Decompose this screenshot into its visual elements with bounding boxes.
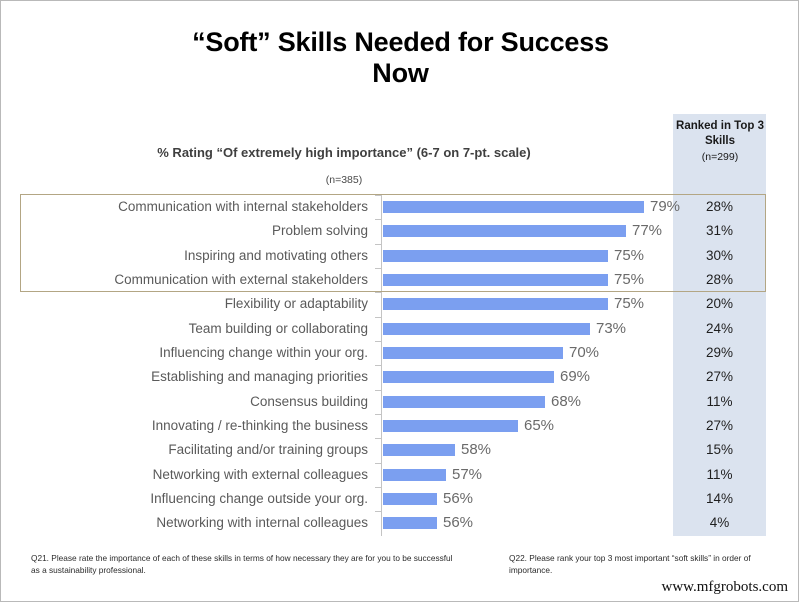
ranked-top3-value: 11% <box>673 463 766 487</box>
category-label: Team building or collaborating <box>23 317 368 341</box>
slide-canvas: “Soft” Skills Needed for Success Now Ran… <box>0 0 799 602</box>
bar-value-label: 68% <box>551 390 581 414</box>
bar <box>383 444 455 456</box>
ranked-top3-value: 28% <box>673 268 766 292</box>
axis-tick <box>375 414 381 415</box>
bar-row: Influencing change outside your org.56%1… <box>23 487 767 511</box>
bar-value-label: 73% <box>596 317 626 341</box>
bar <box>383 396 545 408</box>
ranked-top3-value: 31% <box>673 219 766 243</box>
category-label: Establishing and managing priorities <box>23 365 368 389</box>
ranked-top3-value: 29% <box>673 341 766 365</box>
bar-row: Influencing change within your org.70%29… <box>23 341 767 365</box>
bar-row: Inspiring and motivating others75%30% <box>23 244 767 268</box>
bar-value-label: 75% <box>614 292 644 316</box>
category-label: Inspiring and motivating others <box>23 244 368 268</box>
bar-value-label: 65% <box>524 414 554 438</box>
category-label: Influencing change within your org. <box>23 341 368 365</box>
axis-tick <box>375 511 381 512</box>
bar <box>383 371 554 383</box>
axis-tick <box>375 292 381 293</box>
bar-value-label: 56% <box>443 487 473 511</box>
ranked-top3-value: 15% <box>673 438 766 462</box>
bar <box>383 201 644 213</box>
bar-row: Consensus building68%11% <box>23 390 767 414</box>
ranked-top3-value: 28% <box>673 195 766 219</box>
bar-row: Flexibility or adaptability75%20% <box>23 292 767 316</box>
chart-plot-area: Communication with internal stakeholders… <box>23 195 767 536</box>
category-label: Facilitating and/or training groups <box>23 438 368 462</box>
category-label: Innovating / re-thinking the business <box>23 414 368 438</box>
category-label: Problem solving <box>23 219 368 243</box>
title-line-1: “Soft” Skills Needed for Success <box>1 27 799 58</box>
ranked-top3-value: 20% <box>673 292 766 316</box>
bar <box>383 323 590 335</box>
ranked-top3-sample-size: (n=299) <box>665 150 775 165</box>
category-label: Networking with external colleagues <box>23 463 368 487</box>
ranked-top3-header-line2: Skills <box>665 134 775 149</box>
axis-tick <box>375 341 381 342</box>
category-label: Influencing change outside your org. <box>23 487 368 511</box>
bar <box>383 298 608 310</box>
bar-row: Networking with external colleagues57%11… <box>23 463 767 487</box>
ranked-top3-value: 27% <box>673 414 766 438</box>
axis-tick <box>375 390 381 391</box>
bar <box>383 250 608 262</box>
bar <box>383 517 437 529</box>
bar-row: Team building or collaborating73%24% <box>23 317 767 341</box>
axis-tick <box>375 219 381 220</box>
title-line-2: Now <box>1 58 799 89</box>
chart-sample-size: (n=385) <box>21 174 667 186</box>
bar <box>383 347 563 359</box>
bar-value-label: 75% <box>614 268 644 292</box>
ranked-top3-value: 24% <box>673 317 766 341</box>
axis-tick <box>375 438 381 439</box>
ranked-top3-value: 11% <box>673 390 766 414</box>
bar-row: Communication with external stakeholders… <box>23 268 767 292</box>
bar-value-label: 77% <box>632 219 662 243</box>
footnote-q22: Q22. Please rank your top 3 most importa… <box>509 553 779 576</box>
bar-value-label: 75% <box>614 244 644 268</box>
bar-row: Facilitating and/or training groups58%15… <box>23 438 767 462</box>
watermark: www.mfgrobots.com <box>608 579 788 596</box>
bar-row: Communication with internal stakeholders… <box>23 195 767 219</box>
ranked-top3-value: 14% <box>673 487 766 511</box>
bar-value-label: 56% <box>443 511 473 535</box>
category-label: Consensus building <box>23 390 368 414</box>
bar <box>383 493 437 505</box>
ranked-top3-value: 27% <box>673 365 766 389</box>
axis-tick <box>375 195 381 196</box>
page-title: “Soft” Skills Needed for Success Now <box>1 27 799 89</box>
bar-row: Problem solving77%31% <box>23 219 767 243</box>
bar <box>383 225 626 237</box>
bar-value-label: 57% <box>452 463 482 487</box>
bar-row: Innovating / re-thinking the business65%… <box>23 414 767 438</box>
category-label: Flexibility or adaptability <box>23 292 368 316</box>
ranked-top3-header: Ranked in Top 3 Skills (n=299) <box>665 119 775 165</box>
axis-tick <box>375 463 381 464</box>
chart-subtitle: % Rating “Of extremely high importance” … <box>21 145 667 160</box>
axis-tick <box>375 268 381 269</box>
ranked-top3-header-line1: Ranked in Top 3 <box>665 119 775 134</box>
bar <box>383 274 608 286</box>
bar-value-label: 69% <box>560 365 590 389</box>
category-label: Communication with internal stakeholders <box>23 195 368 219</box>
bar <box>383 420 518 432</box>
bar-row: Establishing and managing priorities69%2… <box>23 365 767 389</box>
axis-tick <box>375 365 381 366</box>
bar <box>383 469 446 481</box>
category-label: Networking with internal colleagues <box>23 511 368 535</box>
bar-row: Networking with internal colleagues56%4% <box>23 511 767 535</box>
axis-tick <box>375 487 381 488</box>
ranked-top3-value: 4% <box>673 511 766 535</box>
category-label: Communication with external stakeholders <box>23 268 368 292</box>
bar-value-label: 58% <box>461 438 491 462</box>
axis-tick <box>375 244 381 245</box>
ranked-top3-value: 30% <box>673 244 766 268</box>
bar-rows-container: Communication with internal stakeholders… <box>23 195 767 536</box>
bar-value-label: 70% <box>569 341 599 365</box>
footnote-q21: Q21. Please rate the importance of each … <box>31 553 461 576</box>
axis-tick <box>375 317 381 318</box>
